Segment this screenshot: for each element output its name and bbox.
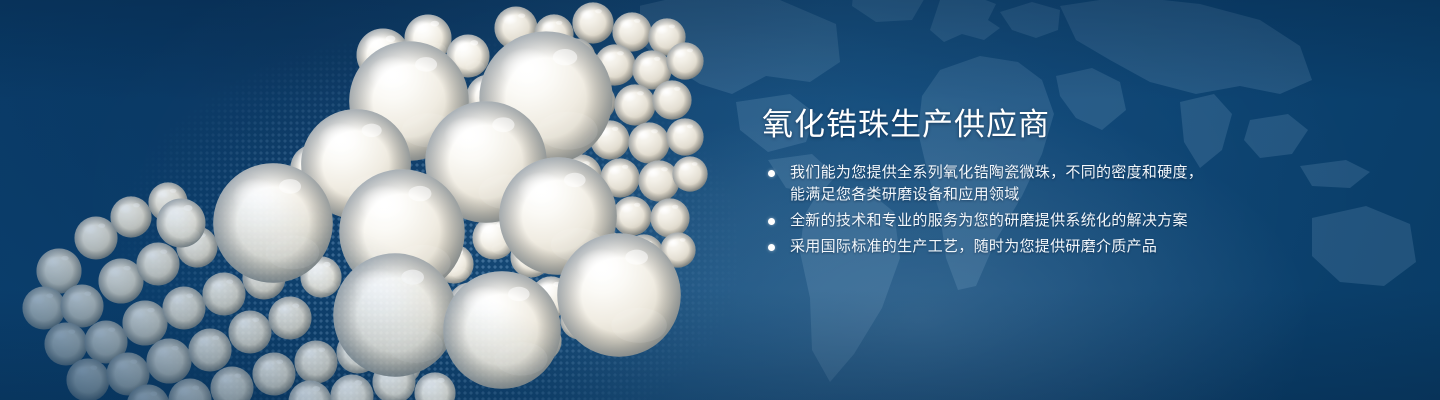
list-item: 我们能为您提供全系列氧化锆陶瓷微珠，不同的密度和硬度， 能满足您各类研磨设备和应… [762, 162, 1322, 206]
feature-list: 我们能为您提供全系列氧化锆陶瓷微珠，不同的密度和硬度， 能满足您各类研磨设备和应… [762, 162, 1322, 258]
bullet-dot-icon [768, 244, 775, 251]
bullet-dot-icon [768, 218, 775, 225]
list-item: 采用国际标准的生产工艺，随时为您提供研磨介质产品 [762, 236, 1322, 258]
list-item: 全新的技术和专业的服务为您的研磨提供系统化的解决方案 [762, 210, 1322, 232]
list-item-line-1: 全新的技术和专业的服务为您的研磨提供系统化的解决方案 [790, 210, 1322, 232]
bullet-dot-icon [768, 170, 775, 177]
list-item-line-1: 采用国际标准的生产工艺，随时为您提供研磨介质产品 [790, 236, 1322, 258]
banner-copy: 氧化锆珠生产供应商 我们能为您提供全系列氧化锆陶瓷微珠，不同的密度和硬度， 能满… [762, 104, 1322, 262]
list-item-line-1: 我们能为您提供全系列氧化锆陶瓷微珠，不同的密度和硬度， [790, 162, 1322, 184]
list-item-line-2: 能满足您各类研磨设备和应用领域 [790, 184, 1322, 206]
page-title: 氧化锆珠生产供应商 [762, 104, 1322, 146]
hero-banner: 氧化锆珠生产供应商 我们能为您提供全系列氧化锆陶瓷微珠，不同的密度和硬度， 能满… [0, 0, 1440, 400]
